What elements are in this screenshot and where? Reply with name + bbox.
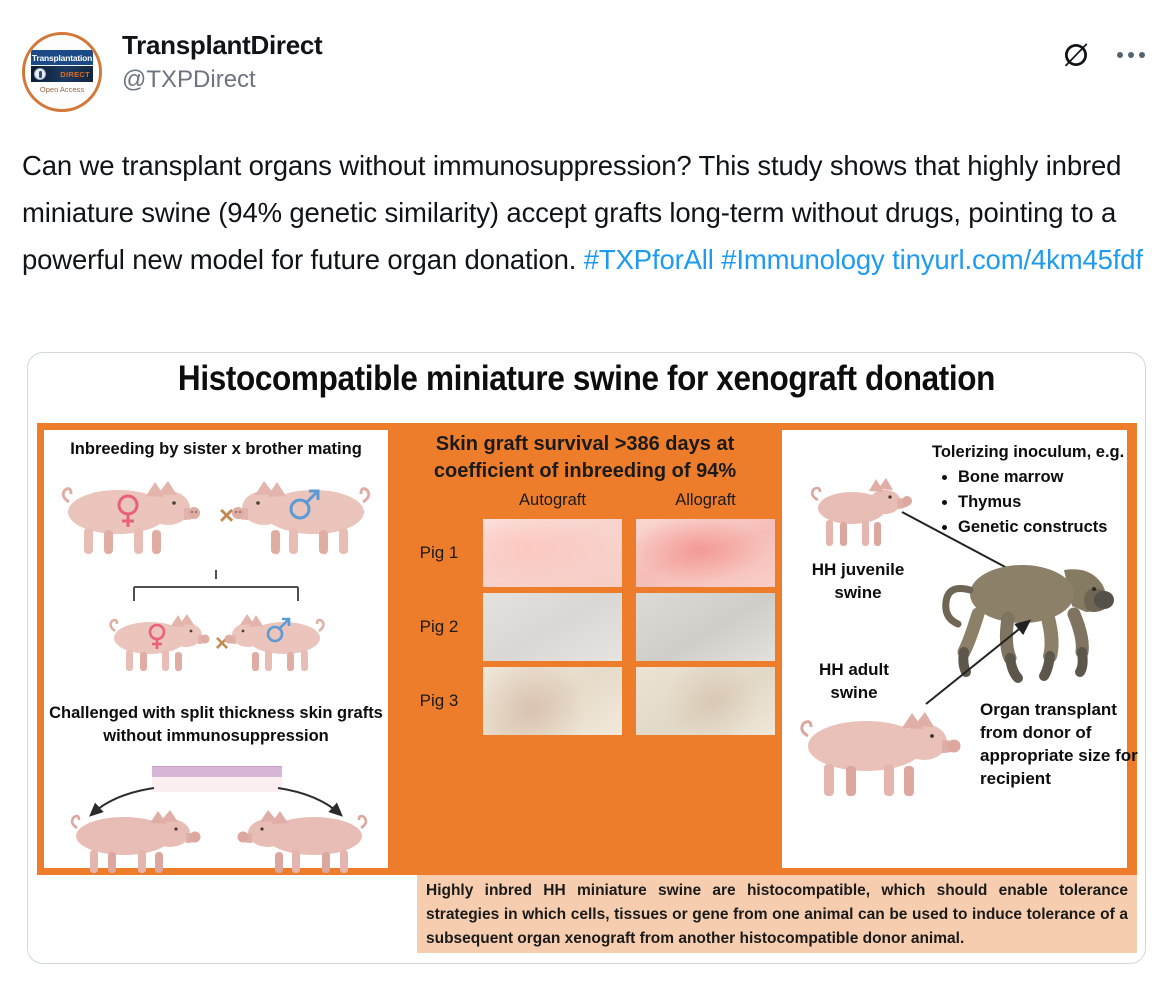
column-header-autograft: Autograft xyxy=(483,491,622,510)
graft-row-pig2: Pig 2 xyxy=(395,593,775,661)
svg-text:×: × xyxy=(215,630,229,657)
graft-row-pig1: Pig 1 xyxy=(395,519,775,587)
adult-pig-illustration xyxy=(790,706,980,806)
column-header-allograft: Allograft xyxy=(636,491,775,510)
graft-image-grid: Pig 1 Pig 2 Pig 3 xyxy=(395,519,775,741)
avatar-direct-band: DIRECT xyxy=(31,66,93,82)
organ-transplant-label: Organ transplant from donor of appropria… xyxy=(980,698,1140,790)
tolerizing-inoculum-heading: Tolerizing inoculum, e.g. xyxy=(932,440,1124,465)
infographic-media-card[interactable]: Histocompatible miniature swine for xeno… xyxy=(27,352,1146,964)
account-names: TransplantDirect @TXPDirect xyxy=(122,28,322,96)
parent-pigs-illustration: × xyxy=(50,472,382,564)
parent-pigs-row: × xyxy=(50,472,382,564)
avatar-logo: Transplantation DIRECT Open Access xyxy=(25,35,99,109)
row-label-pig2: Pig 2 xyxy=(395,617,483,637)
skin-graft-challenge-label: Challenged with split thickness skin gra… xyxy=(44,702,388,748)
account-handle[interactable]: @TXPDirect xyxy=(122,64,322,96)
panel-inbreeding-inner: Inbreeding by sister x brother mating xyxy=(44,430,388,868)
hashtag-txpforall[interactable]: #TXPforAll xyxy=(584,244,714,275)
infographic-panels: Inbreeding by sister x brother mating xyxy=(37,423,1137,875)
display-name[interactable]: TransplantDirect xyxy=(122,28,322,62)
graft-photo-pig1-allograft xyxy=(636,519,775,587)
tweet-link[interactable]: tinyurl.com/4km45fdf xyxy=(892,244,1143,275)
svg-text:×: × xyxy=(219,500,234,530)
infographic-caption-text: Highly inbred HH miniature swine are his… xyxy=(426,879,1128,951)
avatar-brand-text: Transplantation xyxy=(31,50,93,65)
hashtag-immunology[interactable]: #Immunology xyxy=(721,244,884,275)
inbreeding-title: Inbreeding by sister x brother mating xyxy=(44,440,388,459)
offspring-pigs-illustration: × xyxy=(102,608,332,682)
graft-photo-pig1-autograft xyxy=(483,519,622,587)
header-actions xyxy=(1061,40,1145,70)
panel-inbreeding: Inbreeding by sister x brother mating xyxy=(37,423,395,875)
graft-strip-top xyxy=(152,766,282,777)
grok-icon[interactable] xyxy=(1061,40,1091,70)
row-label-pig3: Pig 3 xyxy=(395,691,483,711)
panel-skin-graft-results: Skin graft survival >386 days at coeffic… xyxy=(395,423,775,875)
society-seal-icon xyxy=(34,68,46,80)
header-spacer xyxy=(395,491,483,510)
panel-tolerance-inner: Tolerizing inoculum, e.g. Bone marrow Th… xyxy=(782,430,1127,868)
graft-column-headers: Autograft Allograft xyxy=(395,491,775,510)
tweet-body-text: Can we transplant organs without immunos… xyxy=(22,142,1152,283)
graft-photo-pig3-allograft xyxy=(636,667,775,735)
skin-graft-survival-title: Skin graft survival >386 days at coeffic… xyxy=(401,431,769,485)
graft-photo-pig2-autograft xyxy=(483,593,622,661)
organ-transplant-arrow-icon xyxy=(922,616,1042,708)
more-options-icon[interactable] xyxy=(1117,46,1145,64)
graft-photo-pig3-autograft xyxy=(483,667,622,735)
header-gap xyxy=(622,491,636,510)
inoculum-item-bone-marrow: Bone marrow xyxy=(958,465,1124,490)
tweet-header: Transplantation DIRECT Open Access Trans… xyxy=(22,28,1145,120)
tweet-page: Transplantation DIRECT Open Access Trans… xyxy=(0,0,1167,987)
graft-row-pig3: Pig 3 xyxy=(395,667,775,735)
panel-tolerance-strategy: Tolerizing inoculum, e.g. Bone marrow Th… xyxy=(775,423,1137,875)
hh-adult-swine-label: HH adult swine xyxy=(794,658,914,704)
offspring-pigs-row: × xyxy=(102,608,332,682)
avatar[interactable]: Transplantation DIRECT Open Access xyxy=(22,32,102,112)
pedigree-bracket xyxy=(130,570,302,604)
infographic-title: Histocompatible miniature swine for xeno… xyxy=(84,359,1089,399)
graft-photo-pig2-allograft xyxy=(636,593,775,661)
infographic-caption-band: Highly inbred HH miniature swine are his… xyxy=(417,875,1137,953)
row-label-pig1: Pig 1 xyxy=(395,543,483,563)
avatar-direct-text: DIRECT xyxy=(60,70,90,79)
avatar-open-access-text: Open Access xyxy=(40,85,84,94)
challenged-pigs-illustration xyxy=(54,806,384,876)
